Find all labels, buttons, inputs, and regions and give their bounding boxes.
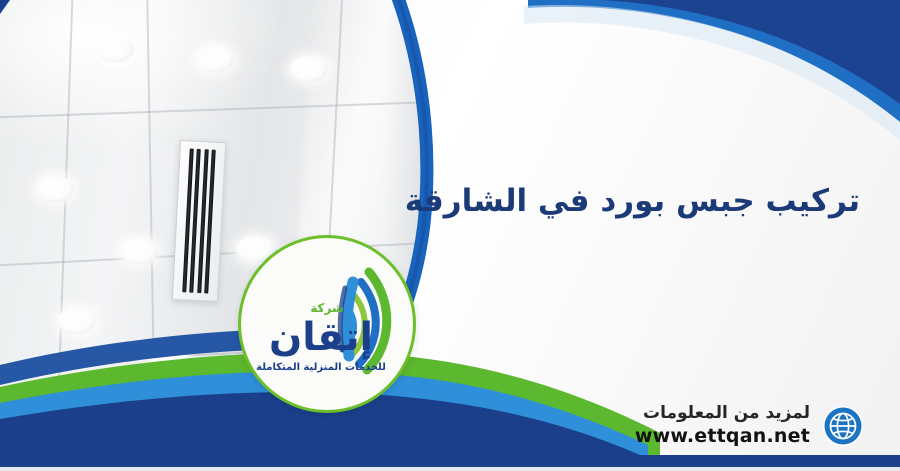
ceiling-light-icon (120, 238, 158, 264)
ceiling-light-icon (58, 308, 96, 334)
company-logo: شركة إتقان للخدمات المنزلية المتكاملة (238, 235, 416, 413)
website-url[interactable]: www.ettqan.net (635, 425, 810, 449)
footer-contact[interactable]: لمزيد من المعلومات www.ettqan.net (635, 402, 864, 449)
more-info-label: لمزيد من المعلومات (635, 402, 810, 425)
page-title: تركيب جبس بورد في الشارقة (300, 182, 860, 221)
bottom-accent-band (0, 455, 900, 467)
ceiling-light-icon (290, 56, 328, 82)
promo-banner: تركيب جبس بورد في الشارقة شركة إتقان للخ… (0, 0, 900, 471)
logo-brand-text: إتقان (269, 315, 373, 360)
corner-wedge-icon (0, 0, 10, 14)
ceiling-light-icon (196, 46, 234, 72)
footer-text-block: لمزيد من المعلومات www.ettqan.net (635, 402, 810, 449)
logo-prefix-text: شركة (310, 301, 344, 315)
ceiling-light-icon (96, 36, 134, 62)
logo-tagline-text: للخدمات المنزلية المتكاملة (256, 362, 386, 373)
bottom-edge-strip (0, 467, 900, 471)
ceiling-light-icon (36, 176, 74, 202)
globe-icon (822, 405, 864, 447)
ceiling-light-icon (150, 344, 188, 370)
linear-air-vent-icon (172, 140, 226, 302)
logo-artwork: شركة إتقان للخدمات المنزلية المتكاملة (241, 238, 413, 410)
